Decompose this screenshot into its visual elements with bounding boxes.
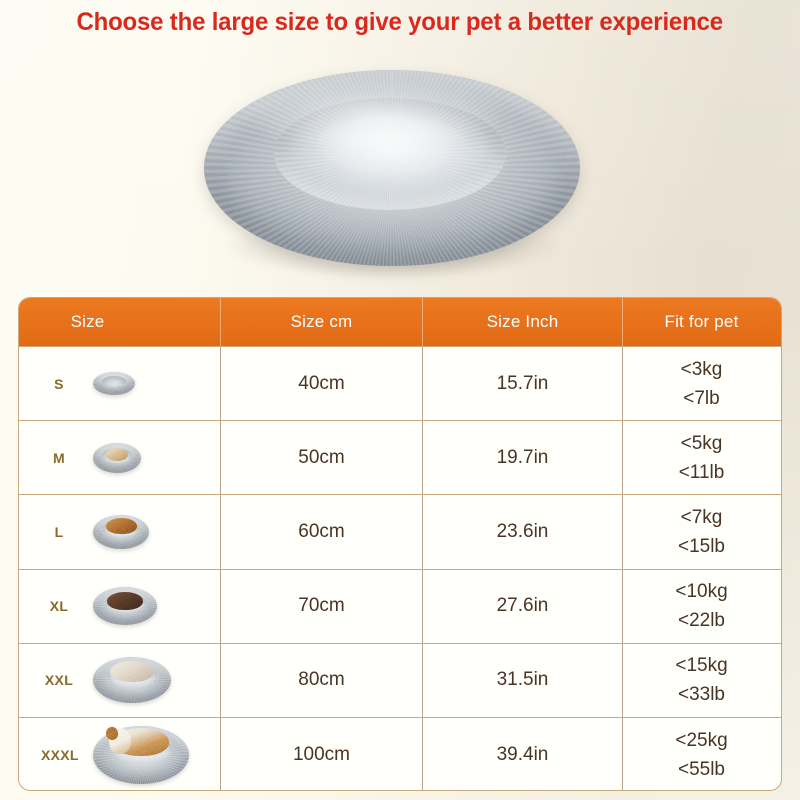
size-label: XXL (41, 672, 77, 688)
table-row: XXXL 100cm 39.4in <25kg <55lb (19, 717, 781, 791)
size-label: M (41, 450, 77, 466)
table-header-row: Size Size cm Size Inch Fit for pet (19, 298, 781, 346)
cell-size-inch: 39.4in (423, 718, 623, 791)
table-row: XXL 80cm 31.5in <15kg <33lb (19, 643, 781, 717)
table-row: S 40cm 15.7in <3kg <7lb (19, 346, 781, 420)
fit-weight-kg: <7kg (681, 508, 723, 527)
bed-thumbnail-s (93, 372, 135, 395)
cell-size-inch: 23.6in (423, 495, 623, 568)
cell-size: L (19, 495, 221, 568)
bed-thumbnail-xxxl (93, 726, 189, 784)
fit-weight-kg: <3kg (681, 360, 723, 379)
cell-size-inch: 27.6in (423, 570, 623, 643)
cell-size-inch: 15.7in (423, 347, 623, 420)
cell-size: XXXL (19, 718, 221, 791)
cell-fit-for-pet: <10kg <22lb (623, 570, 780, 643)
cell-fit-for-pet: <5kg <11lb (623, 421, 780, 494)
table-row: M 50cm 19.7in <5kg <11lb (19, 420, 781, 494)
fit-weight-lb: <15lb (678, 537, 725, 556)
product-hero-image (196, 66, 588, 284)
size-label: XL (41, 598, 77, 614)
cell-size: S (19, 347, 221, 420)
bed-bowl-fur (93, 657, 171, 703)
size-label: XXXL (41, 747, 77, 763)
cell-size: XXL (19, 644, 221, 717)
column-header-size-cm: Size cm (221, 298, 423, 346)
page-title: Choose the large size to give your pet a… (77, 8, 723, 37)
table-row: L 60cm 23.6in <7kg <15lb (19, 494, 781, 568)
bed-bowl-fur (93, 587, 157, 625)
cell-size-cm: 80cm (221, 644, 423, 717)
cell-fit-for-pet: <15kg <33lb (623, 644, 780, 717)
bed-thumbnail-m (93, 443, 141, 473)
column-header-fit-for-pet: Fit for pet (623, 298, 780, 346)
cell-size: XL (19, 570, 221, 643)
bed-thumbnail-xl (93, 587, 157, 625)
fit-weight-kg: <5kg (681, 434, 723, 453)
cell-size-cm: 50cm (221, 421, 423, 494)
cell-size-cm: 40cm (221, 347, 423, 420)
column-header-size-inch: Size Inch (423, 298, 623, 346)
bed-thumbnail-l (93, 515, 149, 549)
cell-fit-for-pet: <25kg <55lb (623, 718, 780, 791)
fit-weight-lb: <22lb (678, 611, 725, 630)
cell-fit-for-pet: <3kg <7lb (623, 347, 780, 420)
column-header-size: Size (19, 298, 221, 346)
bed-bowl-fur (93, 443, 141, 473)
product-size-chart-page: Choose the large size to give your pet a… (0, 0, 800, 800)
cell-size-cm: 70cm (221, 570, 423, 643)
fit-weight-lb: <55lb (678, 760, 725, 779)
size-chart-table: Size Size cm Size Inch Fit for pet S 40c… (18, 297, 782, 791)
table-row: XL 70cm 27.6in <10kg <22lb (19, 569, 781, 643)
fit-weight-lb: <7lb (683, 389, 719, 408)
size-label: L (41, 524, 77, 540)
size-label: S (41, 376, 77, 392)
cell-size: M (19, 421, 221, 494)
cell-size-inch: 19.7in (423, 421, 623, 494)
cell-fit-for-pet: <7kg <15lb (623, 495, 780, 568)
fit-weight-kg: <10kg (675, 582, 727, 601)
headline-banner: Choose the large size to give your pet a… (0, 8, 800, 37)
bed-bowl-fur (93, 515, 149, 549)
fit-weight-kg: <15kg (675, 656, 727, 675)
fit-weight-kg: <25kg (675, 731, 727, 750)
bed-rim-highlight (242, 78, 502, 148)
cell-size-inch: 31.5in (423, 644, 623, 717)
fit-weight-lb: <33lb (678, 685, 725, 704)
bed-bowl-fur (93, 726, 189, 784)
cell-size-cm: 60cm (221, 495, 423, 568)
cell-size-cm: 100cm (221, 718, 423, 791)
fit-weight-lb: <11lb (679, 463, 725, 482)
bed-thumbnail-xxl (93, 657, 171, 703)
